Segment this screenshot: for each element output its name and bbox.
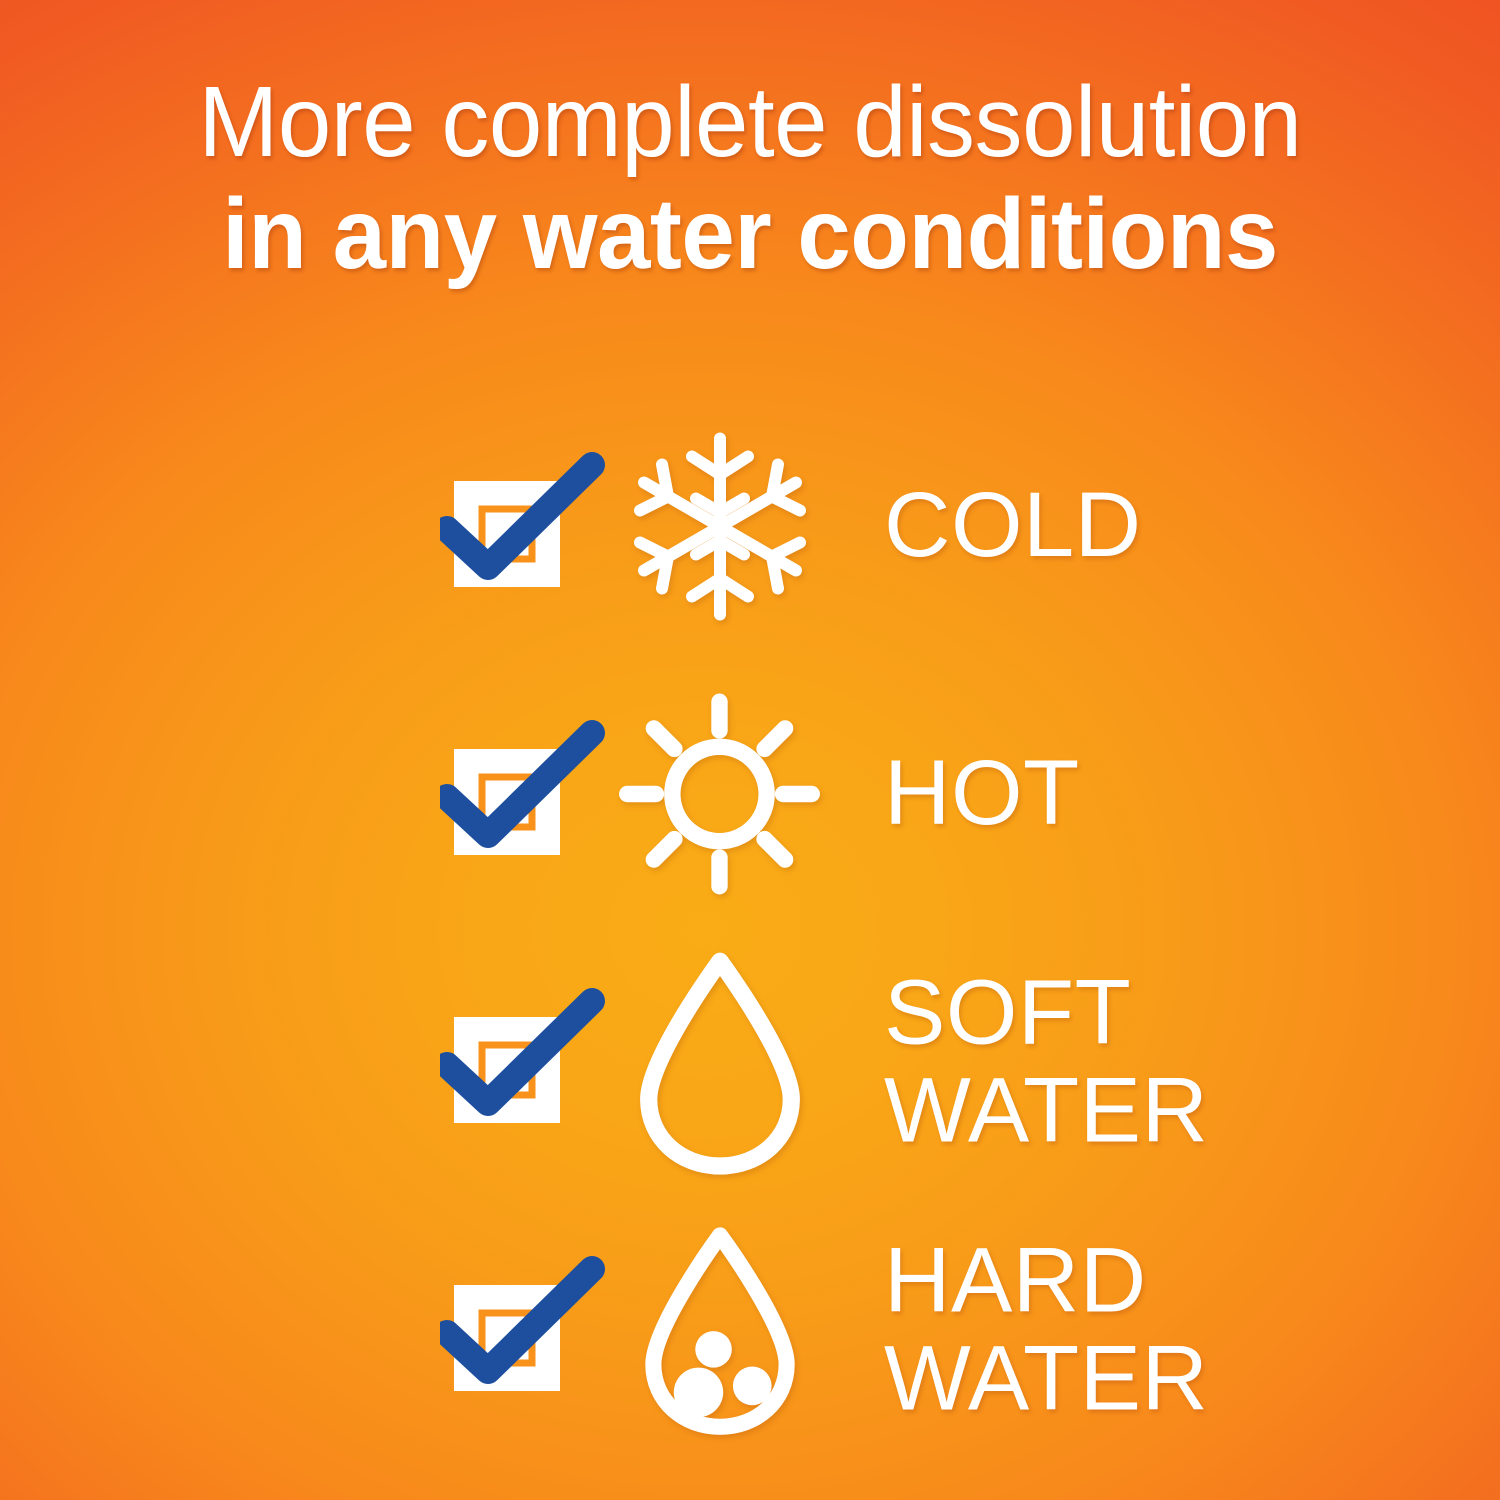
checkbox-soft-water[interactable] [440,977,610,1147]
list-item: SOFT WATER [0,928,1500,1196]
list-item: COLD [0,392,1500,660]
list-item: HARD WATER [0,1196,1500,1464]
list-item: HOT [0,660,1500,928]
mineral-bubbles [673,1331,771,1417]
sun-icon [612,687,827,902]
headline-line-1: More complete dissolution [30,72,1470,172]
feature-label-soft-water: SOFT WATER [884,964,1208,1159]
feature-label-hard-water: HARD WATER [884,1232,1208,1427]
product-benefit-poster: More complete dissolution in any water c… [0,0,1500,1500]
checkbox-hard-water[interactable] [440,1245,610,1415]
water-droplet-icon [612,955,827,1170]
checkbox-cold[interactable] [440,441,610,611]
water-droplet-minerals-icon [612,1223,827,1438]
feature-list: COLD [0,392,1500,1464]
snowflake-icon [612,419,827,634]
page-title: More complete dissolution in any water c… [0,72,1500,284]
checkbox-hot[interactable] [440,709,610,879]
headline-line-2: in any water conditions [30,184,1470,284]
feature-label-hot: HOT [884,745,1080,843]
feature-label-cold: COLD [884,477,1142,575]
